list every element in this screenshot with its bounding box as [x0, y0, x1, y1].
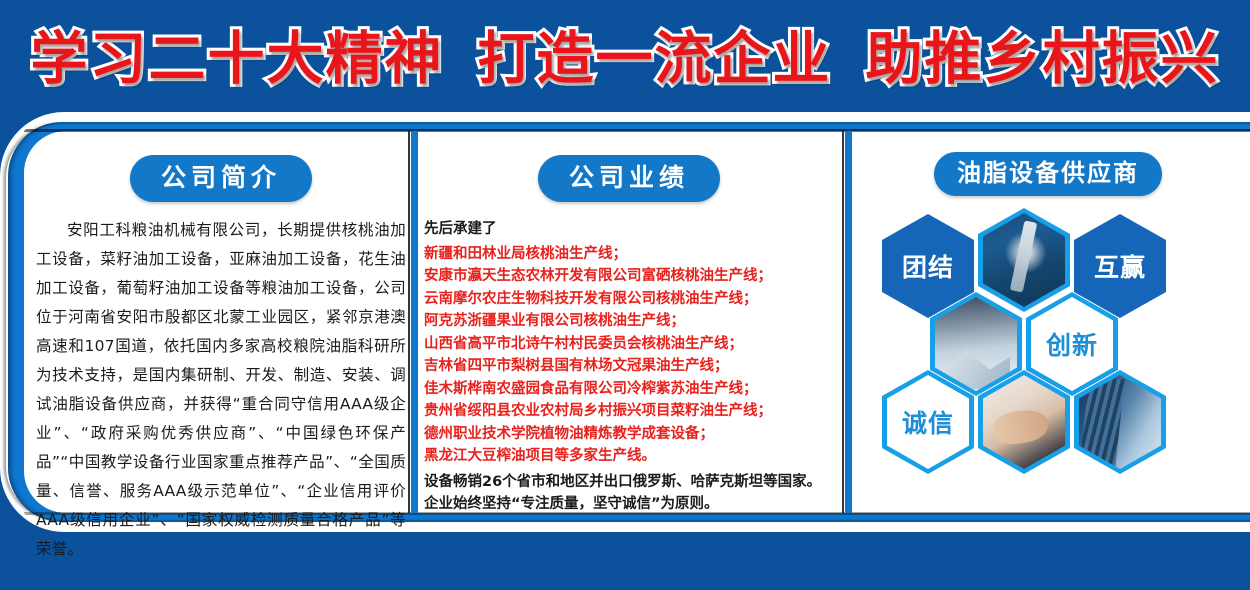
- column-divider-1: [411, 131, 418, 513]
- supplier-title: 油脂设备供应商: [934, 152, 1162, 196]
- header-title-part2: 打造一流企业: [478, 26, 832, 92]
- hex-label: 创新: [1046, 326, 1098, 362]
- hex-label: 诚信: [902, 404, 954, 440]
- column-divider-2: [845, 131, 852, 513]
- company-intro-body: 安阳工科粮油机械有限公司，长期提供核桃油加工设备，菜籽油加工设备，亚麻油加工设备…: [36, 216, 406, 564]
- hex-label: 互赢: [1094, 248, 1146, 284]
- header-title-part3: 助推乡村振兴: [866, 26, 1220, 92]
- header-banner: 学习二十大精神打造一流企业助推乡村振兴: [0, 0, 1250, 108]
- performance-lead: 先后承建了: [424, 218, 834, 241]
- section-supplier-values: 油脂设备供应商 团结 互赢 创新: [856, 140, 1240, 510]
- company-intro-title: 公司简介: [130, 155, 312, 202]
- hex-label: 团结: [902, 248, 954, 284]
- section-company-intro: 公司简介 安阳工科粮油机械有限公司，长期提供核桃油加工设备，菜籽油加工设备，亚麻…: [36, 140, 406, 510]
- poster-root: 学习二十大精神打造一流企业助推乡村振兴 公司简介 安阳工科粮油机械有限公司，长期…: [0, 0, 1250, 590]
- values-honeycomb: 团结 互赢 创新: [856, 208, 1240, 478]
- performance-project-item: 吉林省四平市梨树县国有林场文冠果油生产线；: [424, 355, 834, 378]
- hex-chengxin: 诚信: [882, 370, 974, 474]
- performance-project-item: 佳木斯桦南农盛园食品有限公司冷榨紫苏油生产线；: [424, 378, 834, 401]
- performance-project-item: 德州职业技术学院植物油精炼教学成套设备；: [424, 423, 834, 446]
- section-company-performance: 公司业绩 先后承建了 新疆和田林业局核桃油生产线；安康市瀛天生态农林开发有限公司…: [424, 140, 834, 510]
- performance-project-item: 安康市瀛天生态农林开发有限公司富硒核桃油生产线；: [424, 265, 834, 288]
- performance-list: 先后承建了 新疆和田林业局核桃油生产线；安康市瀛天生态农林开发有限公司富硒核桃油…: [424, 218, 834, 516]
- performance-project-item: 新疆和田林业局核桃油生产线；: [424, 243, 834, 266]
- performance-projects: 新疆和田林业局核桃油生产线；安康市瀛天生态农林开发有限公司富硒核桃油生产线；云南…: [424, 243, 834, 468]
- performance-project-item: 云南摩尔农庄生物科技开发有限公司核桃油生产线；: [424, 288, 834, 311]
- company-performance-title: 公司业绩: [538, 155, 720, 202]
- performance-project-item: 黑龙江大豆榨油项目等多家生产线。: [424, 445, 834, 468]
- header-title-part1: 学习二十大精神: [31, 26, 444, 92]
- performance-footer: 设备畅销26个省市和地区并出口俄罗斯、哈萨克斯坦等国家。企业始终坚持“专注质量，…: [424, 471, 834, 516]
- performance-project-item: 贵州省绥阳县农业农村局乡村振兴项目菜籽油生产线；: [424, 400, 834, 423]
- performance-footer-line: 企业始终坚持“专注质量，坚守诚信”为原则。: [424, 493, 834, 516]
- page-title: 学习二十大精神打造一流企业助推乡村振兴: [31, 13, 1220, 95]
- performance-project-item: 山西省高平市北诗午村村民委员会核桃油生产线；: [424, 333, 834, 356]
- performance-project-item: 阿克苏浙疆果业有限公司核桃油生产线；: [424, 310, 834, 333]
- performance-footer-line: 设备畅销26个省市和地区并出口俄罗斯、哈萨克斯坦等国家。: [424, 471, 834, 494]
- hex-skyscraper-photo: [1074, 370, 1166, 474]
- values-slogan: 质量为先信誉为重以诚为本用户至上: [856, 584, 1240, 590]
- hex-handshake-photo: [978, 370, 1070, 474]
